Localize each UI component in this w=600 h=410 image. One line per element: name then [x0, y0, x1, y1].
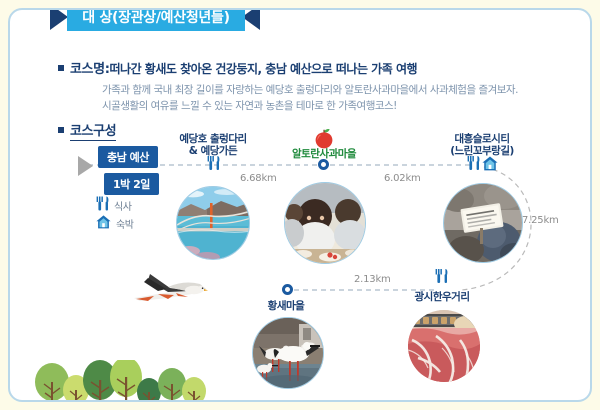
- stop-label-yedangho: 예당호 출렁다리 & 예당가든: [158, 133, 268, 157]
- distance-label-1: 6.68km: [240, 173, 277, 184]
- square-bullet-icon: [58, 127, 64, 133]
- fork-knife-icon: [207, 155, 220, 175]
- stop-photo-altoran: [284, 182, 366, 264]
- start-region-badge: 충남 예산: [98, 146, 158, 168]
- header-banner: 대 상(장관상/예산청년들): [67, 8, 245, 31]
- fork-knife-icon: [96, 196, 109, 215]
- header-ribbon: 대 상(장관상/예산청년들): [10, 8, 592, 35]
- route-marker-hwangsae: [282, 284, 293, 295]
- fork-knife-icon: [467, 155, 480, 175]
- page-title: 대 상(장관상/예산청년들): [82, 8, 229, 27]
- stop-photo-yedangho: [176, 186, 250, 260]
- distance-label-3: 7.25km: [522, 215, 559, 226]
- flying-stork-illustration: [128, 268, 208, 314]
- course-description-line-2: 시골생활의 여유를 느낄 수 있는 자연과 농촌을 테마로 한 가족여행코스!: [102, 98, 397, 113]
- legend-item-meal: 식사: [96, 196, 131, 215]
- legend-item-lodging: 숙박: [96, 214, 133, 233]
- stop-photo-daeheung: [443, 183, 523, 263]
- stop-photo-gwangsi: [408, 310, 480, 382]
- route-marker-altoran: [318, 159, 329, 170]
- stop-icons-daeheung: [465, 155, 499, 175]
- course-name-label: 코스명: [70, 58, 105, 77]
- infographic-page: 대 상(장관상/예산청년들) 코스명 : 떠나간 황새도 찾아온 건강둥지, 충…: [8, 8, 592, 402]
- stop-icons-yedangho: [199, 155, 227, 175]
- stop-label-hwangsae: 황새마을: [246, 300, 326, 312]
- course-description-line-1: 가족과 함께 국내 최장 길이를 자랑하는 예당호 출렁다리와 알토란사과마을에…: [102, 82, 518, 97]
- course-name-value: 떠나간 황새도 찾아온 건강둥지, 충남 예산으로 떠나는 가족 여행: [110, 60, 418, 77]
- tree-row-illustration: [32, 360, 207, 402]
- stop-label-gwangsi: 광시한우거리: [396, 291, 488, 303]
- course-name-section: 코스명 : 떠나간 황새도 찾아온 건강둥지, 충남 예산으로 떠나는 가족 여…: [58, 58, 417, 77]
- distance-label-2: 6.02km: [384, 173, 421, 184]
- course-composition-label: 코스구성: [70, 120, 116, 141]
- house-icon: [482, 156, 498, 175]
- course-composition-section: 코스구성: [58, 120, 116, 141]
- start-arrow-icon: [78, 156, 93, 176]
- house-icon: [96, 214, 111, 233]
- distance-label-4: 2.13km: [354, 274, 391, 285]
- trip-duration-badge: 1박 2일: [104, 173, 159, 195]
- stop-label-daeheung: 대흥슬로시티 (느린꼬부랑길): [422, 133, 542, 157]
- stop-icons-gwangsi: [428, 268, 454, 288]
- stop-photo-hwangsae: [252, 317, 324, 389]
- legend-label-lodging: 숙박: [116, 216, 133, 231]
- legend-label-meal: 식사: [114, 198, 131, 213]
- square-bullet-icon: [58, 65, 64, 71]
- ribbon-tail-left-icon: [50, 8, 68, 30]
- fork-knife-icon: [435, 268, 448, 288]
